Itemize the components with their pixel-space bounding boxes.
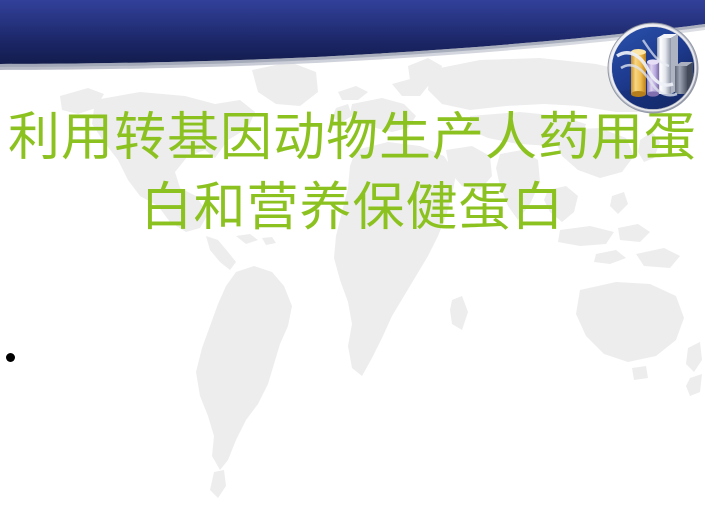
list-item[interactable] [6, 340, 29, 374]
slide-title: 利用转基因动物生产人药用蛋 白和营养保健蛋白 [0, 103, 705, 243]
bullet-point-icon [6, 353, 15, 362]
title-line-2: 白和营养保健蛋白 [0, 173, 705, 243]
presentation-slide: 利用转基因动物生产人药用蛋 白和营养保健蛋白 [0, 0, 705, 527]
title-line-1: 利用转基因动物生产人药用蛋 [0, 103, 705, 173]
slide-body [0, 320, 705, 520]
header-banner [0, 0, 705, 120]
bar-chart-cylinders-logo-icon [607, 22, 699, 114]
